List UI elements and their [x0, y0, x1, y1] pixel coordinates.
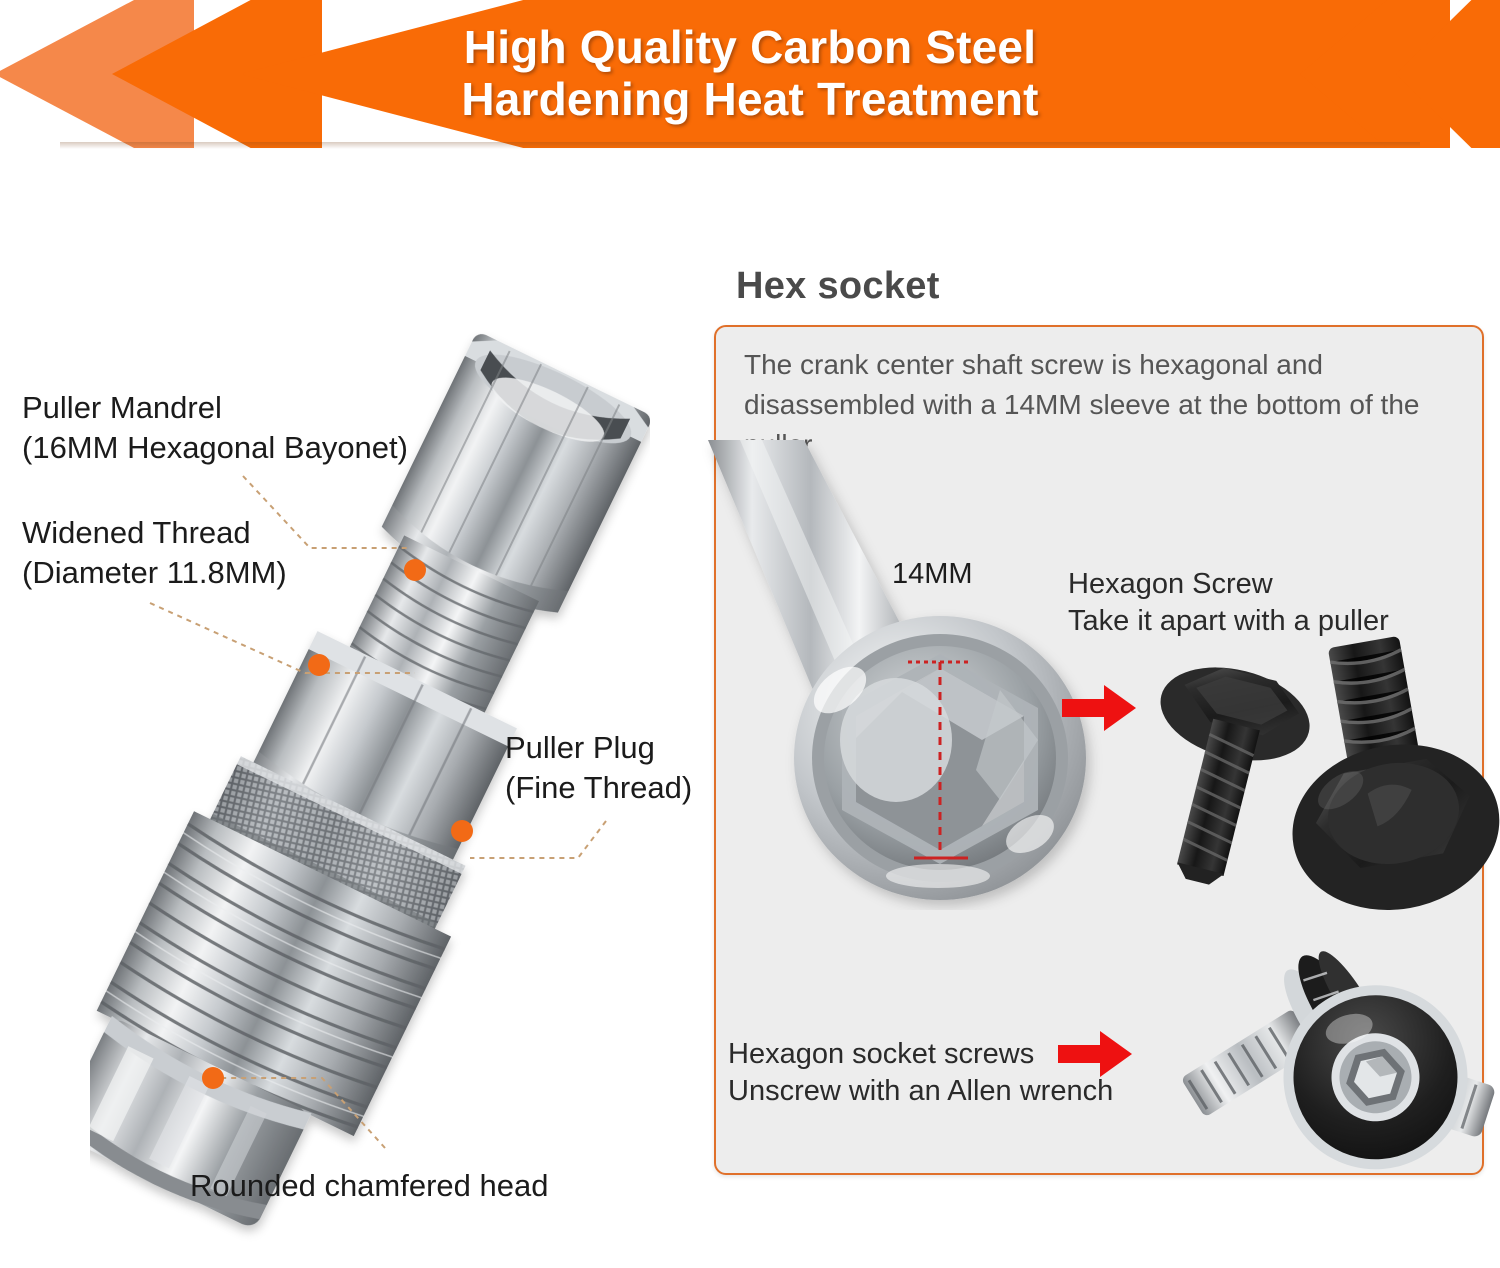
panel-title: Hex socket [736, 265, 940, 308]
banner-title: High Quality Carbon Steel Hardening Heat… [0, 0, 1500, 148]
left-product-diagram: Puller Mandrel (16MM Hexagonal Bayonet) … [0, 148, 700, 1195]
label-allen-screws: Hexagon socket screws Unscrew with an Al… [728, 1036, 1113, 1110]
allen-socket-screws-image [1160, 930, 1500, 1195]
callout-puller-plug: Puller Plug (Fine Thread) [505, 728, 692, 807]
label-hexagon-screw-line2: Take it apart with a puller [1068, 603, 1389, 640]
arrow-right-icon [1060, 682, 1138, 734]
callout-rounded-chamfered-head-line1: Rounded chamfered head [190, 1166, 548, 1206]
hex-socket-head-image [700, 440, 1130, 910]
hexagon-flange-bolts-image [1128, 630, 1500, 910]
callout-rounded-chamfered-head: Rounded chamfered head [190, 1166, 548, 1206]
label-allen-screws-line2: Unscrew with an Allen wrench [728, 1073, 1113, 1110]
callout-puller-mandrel-line2: (16MM Hexagonal Bayonet) [22, 428, 408, 468]
header-banner: High Quality Carbon Steel Hardening Heat… [0, 0, 1500, 148]
label-hexagon-screw: Hexagon Screw Take it apart with a pulle… [1068, 566, 1389, 640]
label-hexagon-screw-line1: Hexagon Screw [1068, 566, 1389, 603]
label-allen-screws-line1: Hexagon socket screws [728, 1036, 1113, 1073]
label-14mm: 14MM [892, 558, 973, 591]
callout-puller-mandrel-line1: Puller Mandrel [22, 388, 408, 428]
callout-widened-thread-line1: Widened Thread [22, 513, 287, 553]
callout-puller-plug-line1: Puller Plug [505, 728, 692, 768]
callout-widened-thread-line2: (Diameter 11.8MM) [22, 553, 287, 593]
callout-widened-thread: Widened Thread (Diameter 11.8MM) [22, 513, 287, 592]
callout-puller-mandrel: Puller Mandrel (16MM Hexagonal Bayonet) [22, 388, 408, 467]
callout-puller-plug-line2: (Fine Thread) [505, 768, 692, 808]
banner-title-line1: High Quality Carbon Steel [464, 22, 1036, 74]
banner-title-line2: Hardening Heat Treatment [461, 74, 1038, 126]
